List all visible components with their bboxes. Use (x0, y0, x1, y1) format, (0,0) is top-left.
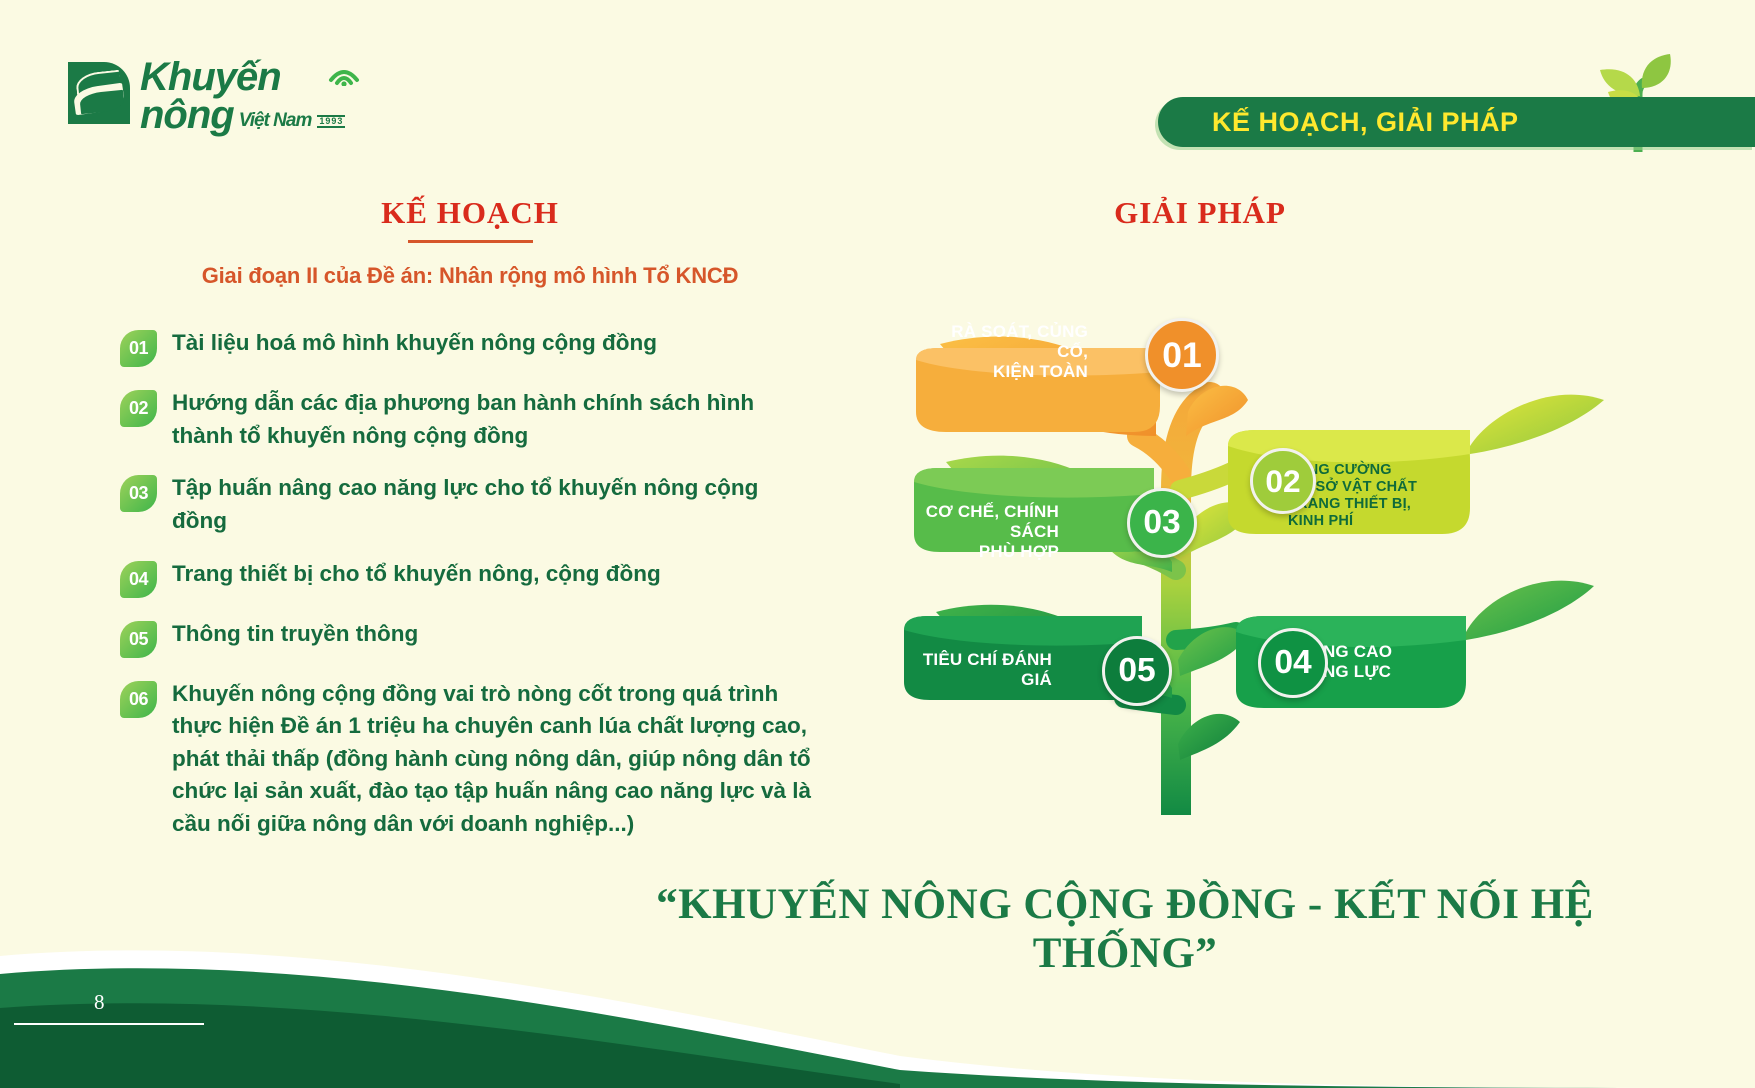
page-number-rule (14, 1023, 204, 1025)
solution-label-line: TIÊU CHÍ ĐÁNH GIÁ (902, 650, 1052, 690)
solution-label-line: RÀ SOÁT, CỦNG CỐ, (918, 322, 1088, 362)
solution-item-04-number: 04 (1274, 644, 1311, 682)
plan-item-text: Tập huấn nâng cao năng lực cho tổ khuyến… (172, 472, 812, 537)
plan-list: 01Tài liệu hoá mô hình khuyến nông cộng … (120, 327, 820, 841)
khuyen-nong-logo: Khuyến nông Việt Nam 1993 (68, 58, 345, 134)
plan-subtitle: Giai đoạn II của Đề án: Nhân rộng mô hìn… (120, 263, 820, 289)
solution-item-03-label: CƠ CHẾ, CHÍNH SÁCHPHÙ HỢP (914, 502, 1059, 562)
logo-subtitle: Việt Nam (239, 112, 312, 130)
page-number: 8 (94, 990, 105, 1015)
header-banner: KẾ HOẠCH, GIẢI PHÁP (1158, 97, 1755, 147)
solution-item-01-badge: 01 (1145, 318, 1219, 392)
plan-item: 04Trang thiết bị cho tổ khuyến nông, cộn… (120, 558, 820, 598)
plan-item: 01Tài liệu hoá mô hình khuyến nông cộng … (120, 327, 820, 367)
header-title: KẾ HOẠCH, GIẢI PHÁP (1212, 107, 1519, 138)
plan-item: 02Hướng dẫn các địa phương ban hành chín… (120, 387, 820, 452)
solution-item-02-number: 02 (1265, 463, 1300, 500)
plan-item-text: Tài liệu hoá mô hình khuyến nông cộng đồ… (172, 327, 657, 360)
logo-line-1: Khuyến (140, 58, 345, 96)
plan-title-underline (408, 240, 533, 243)
wifi-icon (327, 60, 361, 86)
solution-item-03-badge: 03 (1127, 488, 1197, 558)
solution-item-05-label: TIÊU CHÍ ĐÁNH GIÁ (902, 650, 1052, 690)
plan-item: 03Tập huấn nâng cao năng lực cho tổ khuy… (120, 472, 820, 537)
solution-label-line: KIỆN TOÀN (918, 362, 1088, 382)
plan-title: KẾ HOẠCH (120, 195, 820, 231)
plan-item-number: 03 (129, 483, 148, 504)
plan-item-number-badge: 05 (120, 621, 157, 658)
solution-item-04-badge: 04 (1258, 628, 1328, 698)
solution-item-05-badge: 05 (1102, 636, 1172, 706)
solution-item-01-label: RÀ SOÁT, CỦNG CỐ,KIỆN TOÀN (918, 322, 1088, 382)
plan-item-text: Trang thiết bị cho tổ khuyến nông, cộng … (172, 558, 661, 591)
solution-item-01-number: 01 (1162, 335, 1202, 376)
slide-root: Khuyến nông Việt Nam 1993 KẾ HOẠCH, GIẢI… (0, 0, 1755, 1088)
plan-item-number: 05 (129, 629, 148, 650)
plan-item-number-badge: 03 (120, 475, 157, 512)
solution-label-line: PHÙ HỢP (914, 542, 1059, 562)
plan-item-number: 04 (129, 569, 148, 590)
plan-item-number-badge: 02 (120, 390, 157, 427)
solution-column: GIẢI PHÁP (880, 195, 1710, 815)
solution-item-05-number: 05 (1118, 652, 1155, 690)
logo-line-2: nông (140, 96, 234, 134)
bottom-wave-decoration (0, 888, 1755, 1088)
logo-year: 1993 (317, 115, 345, 128)
plan-item: 05Thông tin truyền thông (120, 618, 820, 658)
plan-item-number-badge: 04 (120, 561, 157, 598)
solution-label-line: KINH PHÍ (1288, 513, 1438, 530)
plan-item-text: Hướng dẫn các địa phương ban hành chính … (172, 387, 812, 452)
plan-item-number: 06 (129, 689, 148, 710)
plan-column: KẾ HOẠCH Giai đoạn II của Đề án: Nhân rộ… (120, 195, 820, 861)
solution-title: GIẢI PHÁP (990, 195, 1410, 231)
solution-item-02-badge: 02 (1250, 448, 1316, 514)
solution-label-line: CƠ CHẾ, CHÍNH SÁCH (914, 502, 1059, 542)
plan-item-text: Khuyến nông cộng đồng vai trò nòng cốt t… (172, 678, 812, 841)
solution-item-01-text: RÀ SOÁT, CỦNG CỐ,KIỆN TOÀN (918, 322, 1088, 382)
logo-leaf-icon (68, 62, 130, 124)
solution-item-05-text: TIÊU CHÍ ĐÁNH GIÁ (902, 650, 1052, 690)
plan-item-number-badge: 06 (120, 681, 157, 718)
plan-item-number-badge: 01 (120, 330, 157, 367)
solution-item-03-number: 03 (1143, 504, 1180, 542)
plan-item-number: 02 (129, 398, 148, 419)
plan-item-text: Thông tin truyền thông (172, 618, 418, 651)
plan-item-number: 01 (129, 338, 148, 359)
solution-item-03-text: CƠ CHẾ, CHÍNH SÁCHPHÙ HỢP (914, 502, 1059, 562)
plan-item: 06Khuyến nông cộng đồng vai trò nòng cốt… (120, 678, 820, 841)
logo-wordmark: Khuyến nông Việt Nam 1993 (140, 58, 345, 134)
